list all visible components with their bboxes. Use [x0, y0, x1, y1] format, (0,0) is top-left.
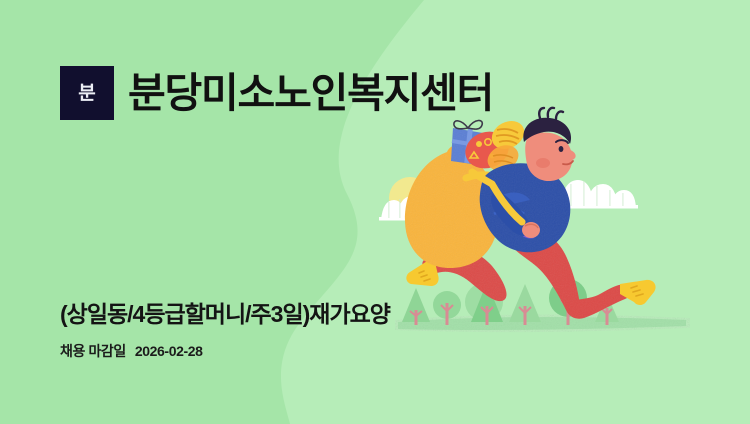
man-front-leg — [510, 228, 632, 319]
organization-name: 분당미소노인복지센터 — [128, 73, 493, 114]
gift-box-blue — [451, 120, 489, 166]
man-arm — [491, 190, 540, 238]
illustration-running-man-with-gift-sack — [0, 0, 750, 424]
cloud-right — [558, 180, 638, 209]
deadline-value: 2026-02-28 — [135, 344, 203, 358]
sack-strap-back — [466, 175, 526, 238]
ground-strip — [395, 314, 690, 332]
man-torso — [480, 163, 571, 252]
sack-strap-shoulder — [472, 172, 492, 184]
logo-initial: 분 — [78, 84, 95, 103]
cloud-left — [379, 196, 446, 221]
tree-row — [402, 279, 619, 325]
man-head — [523, 108, 575, 181]
sack-strap-front — [492, 184, 522, 222]
tree-round-2 — [549, 279, 587, 325]
job-title: (상일동/4등급할머니/주3일)재가요양 — [60, 303, 390, 326]
man-hand — [522, 222, 540, 238]
card-background — [0, 0, 750, 424]
header: 분 분당미소노인복지센터 — [60, 66, 493, 120]
running-man — [405, 108, 656, 319]
man-back-shoe — [406, 258, 438, 286]
gift-ball-red — [461, 126, 514, 174]
gift-ball-yellow — [487, 116, 529, 155]
tree-blob — [465, 282, 503, 325]
tree-cone-2 — [509, 284, 541, 325]
tree-cone — [402, 288, 430, 325]
deadline-label: 채용 마감일 — [60, 344, 126, 358]
man-front-shoe — [620, 280, 656, 305]
man-back-leg — [422, 247, 506, 301]
tree-round — [433, 291, 461, 325]
sun-icon — [389, 177, 431, 219]
light-green-panel — [281, 0, 750, 424]
gift-sack — [405, 145, 498, 268]
organization-logo-badge: 분 — [60, 66, 114, 120]
tree-cone-3 — [595, 294, 619, 325]
gift-ball-orange — [484, 141, 523, 176]
deadline-row: 채용 마감일 2026-02-28 — [60, 344, 203, 358]
job-posting-card: 분 분당미소노인복지센터 (상일동/4등급할머니/주3일)재가요양 채용 마감일… — [0, 0, 750, 424]
gift-items — [451, 116, 529, 176]
